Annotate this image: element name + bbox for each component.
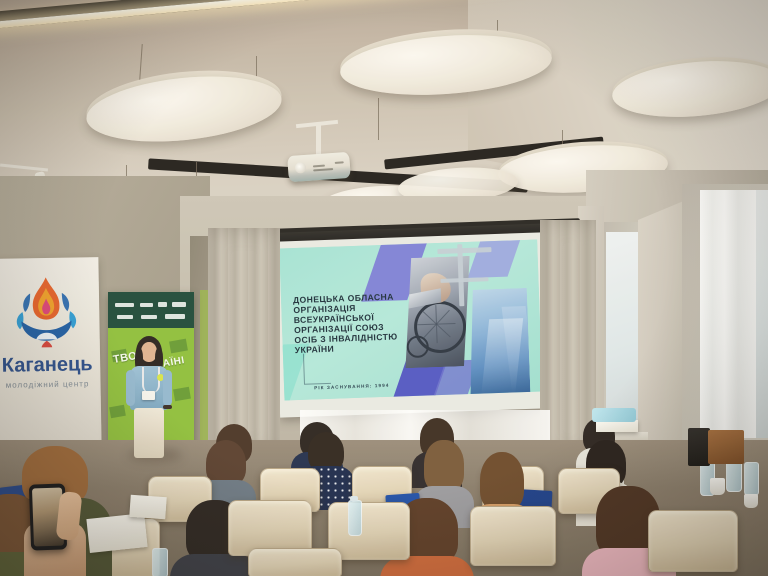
donor-logo-6 <box>141 315 157 319</box>
flame-lotus-logo-icon <box>13 273 80 348</box>
coffee-machine-wood-panel <box>708 430 744 464</box>
ceiling-projector <box>287 152 351 182</box>
sill-fabric <box>592 408 636 422</box>
donor-logo-5 <box>117 315 133 319</box>
donor-logo-2 <box>140 303 153 307</box>
window-glass-1 <box>606 232 640 430</box>
slide-corner-accent <box>303 353 331 385</box>
donor-logo-usaid <box>115 303 134 307</box>
hair <box>480 452 524 510</box>
slide-title: Донецька обласна організація всеукраїнсь… <box>293 292 407 356</box>
projector-lens <box>295 162 307 174</box>
printed-handout[interactable] <box>86 513 147 553</box>
panel-wire <box>378 98 379 140</box>
coffee-machine-body <box>688 428 710 466</box>
sheer-curtain-right <box>700 190 756 438</box>
speaker-presenter <box>126 336 172 458</box>
window-pier-1 <box>638 200 686 450</box>
conference-room-photo: Донецька обласна організація всеукраїнсь… <box>0 0 768 576</box>
presentation-slide: Донецька обласна організація всеукраїнсь… <box>279 240 542 401</box>
bottle-cap <box>350 496 358 501</box>
projector-vent <box>335 161 344 164</box>
glass-building-photo <box>467 288 531 396</box>
hair <box>424 440 464 492</box>
venue-banner: Каганець молодіжний центр <box>0 257 102 449</box>
speaker-badge <box>142 391 155 400</box>
rollup-pattern-square <box>109 405 126 418</box>
water-bottle[interactable] <box>744 462 759 496</box>
curtain-left <box>208 228 280 454</box>
chair[interactable] <box>470 506 556 566</box>
donor-logo-3 <box>158 302 167 307</box>
coffee-machine[interactable] <box>688 428 744 466</box>
rollup-pattern-square <box>173 387 191 402</box>
donor-logo-4 <box>172 302 186 307</box>
speaker-arm-right <box>163 370 172 406</box>
torso <box>170 554 260 576</box>
chair[interactable] <box>248 548 342 576</box>
donor-logo-7 <box>165 314 185 319</box>
printed-handout[interactable] <box>129 495 166 519</box>
paper-cup[interactable] <box>710 478 725 495</box>
projector-vent <box>313 165 325 168</box>
water-bottle[interactable] <box>348 500 362 536</box>
projector-vent <box>313 168 333 171</box>
speaker-wristband <box>163 405 172 409</box>
water-bottle[interactable] <box>152 548 168 576</box>
venue-banner-title: Каганець <box>0 353 100 378</box>
chair[interactable] <box>648 510 738 572</box>
speaker-arm-left <box>126 370 135 406</box>
speaker-trousers <box>134 408 164 458</box>
venue-banner-subtitle: молодіжний центр <box>0 379 101 390</box>
projection-screen: Донецька обласна організація всеукраїнсь… <box>274 232 548 417</box>
wheelchair-wheel-small <box>406 335 429 358</box>
paper-cup[interactable] <box>744 494 758 508</box>
rollup-logo-band <box>108 292 194 328</box>
